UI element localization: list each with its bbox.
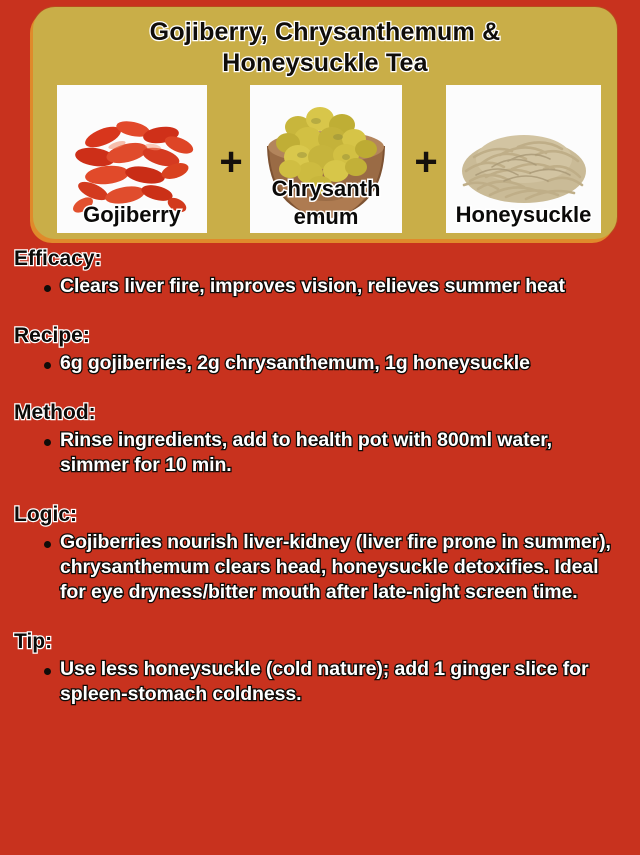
ingredient-label-gojiberry: Gojiberry — [59, 202, 205, 227]
ingredient-label-chrysanthemum: Chrysanth emum — [252, 175, 400, 231]
bullet-text-recipe-0: 6g gojiberries, 2g chrysanthemum, 1g hon… — [60, 352, 530, 374]
bullet-icon — [44, 285, 51, 292]
plus-icon-2: + — [411, 147, 441, 177]
bullet-text-method-0: Rinse ingredients, add to health pot wit… — [60, 429, 552, 476]
section-heading-logic: Logic: — [14, 502, 640, 528]
bullet-icon — [44, 439, 51, 446]
bullet-icon — [44, 668, 51, 675]
section-heading-efficacy: Efficacy: — [14, 246, 640, 272]
header-card: Gojiberry, Chrysanthemum & Honeysuckle T… — [33, 7, 617, 239]
ingredient-tile-honeysuckle: Honeysuckle — [446, 85, 601, 233]
ingredient-tile-chrysanthemum: Chrysanth emum — [250, 85, 402, 233]
bullet-text-tip-0: Use less honeysuckle (cold nature); add … — [60, 658, 588, 705]
bullet-icon — [44, 541, 51, 548]
bullet-icon — [44, 362, 51, 369]
list-item: Use less honeysuckle (cold nature); add … — [44, 657, 624, 707]
list-item: Clears liver fire, improves vision, reli… — [44, 274, 624, 299]
section-efficacy: Efficacy: Clears liver fire, improves vi… — [0, 246, 640, 299]
section-tip: Tip: Use less honeysuckle (cold nature);… — [0, 629, 640, 707]
section-recipe: Recipe: 6g gojiberries, 2g chrysanthemum… — [0, 323, 640, 376]
bullet-text-logic-0: Gojiberries nourish liver-kidney (liver … — [60, 531, 611, 603]
section-heading-method: Method: — [14, 400, 640, 426]
plus-icon-1: + — [216, 147, 246, 177]
tea-recipe-infographic: Gojiberry, Chrysanthemum & Honeysuckle T… — [0, 0, 640, 855]
list-item: Rinse ingredients, add to health pot wit… — [44, 428, 624, 478]
bullet-text-efficacy-0: Clears liver fire, improves vision, reli… — [60, 275, 565, 297]
content-sections: Efficacy: Clears liver fire, improves vi… — [0, 244, 640, 727]
section-heading-recipe: Recipe: — [14, 323, 640, 349]
section-method: Method: Rinse ingredients, add to health… — [0, 400, 640, 478]
page-title: Gojiberry, Chrysanthemum & Honeysuckle T… — [45, 17, 605, 79]
ingredient-label-honeysuckle: Honeysuckle — [448, 202, 599, 227]
section-heading-tip: Tip: — [14, 629, 640, 655]
ingredient-tiles: Gojiberry + — [33, 85, 617, 239]
list-item: Gojiberries nourish liver-kidney (liver … — [44, 530, 624, 605]
ingredient-tile-gojiberry: Gojiberry — [57, 85, 207, 233]
list-item: 6g gojiberries, 2g chrysanthemum, 1g hon… — [44, 351, 624, 376]
section-logic: Logic: Gojiberries nourish liver-kidney … — [0, 502, 640, 605]
